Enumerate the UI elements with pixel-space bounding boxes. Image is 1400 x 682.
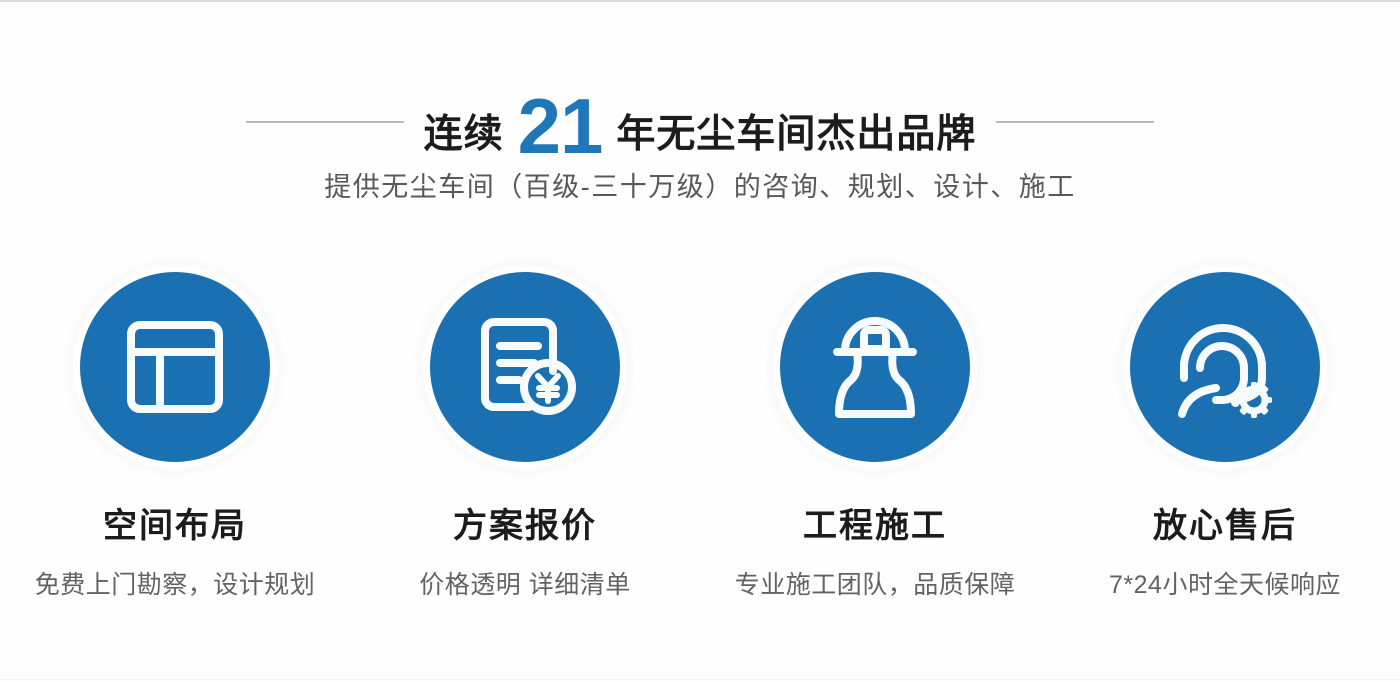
headline-row: 连续 21 年无尘车间杰出品牌 [0, 80, 1400, 164]
feature-title: 方案报价 [453, 498, 597, 547]
icon-halo [1122, 264, 1328, 470]
headline-divider-right [996, 121, 1154, 123]
feature-item-after-sales[interactable]: 放心售后 7*24小时全天候响应 [1050, 264, 1400, 601]
feature-list: 空间布局 免费上门勘察，设计规划 [0, 264, 1400, 601]
construction-worker-helmet-icon [823, 313, 927, 421]
icon-circle [1130, 272, 1320, 462]
subtitle: 提供无尘车间（百级-三十万级）的咨询、规划、设计、施工 [0, 165, 1400, 204]
icon-circle [780, 272, 970, 462]
headline-suffix: 年无尘车间杰出品牌 [616, 115, 976, 154]
document-yuan-quote-icon [471, 313, 579, 421]
feature-title: 放心售后 [1153, 498, 1297, 547]
headline-years-number: 21 [518, 87, 603, 165]
layout-grid-icon [123, 315, 227, 419]
feature-description: 7*24小时全天候响应 [1109, 565, 1341, 601]
feature-banner: 连续 21 年无尘车间杰出品牌 提供无尘车间（百级-三十万级）的咨询、规划、设计… [0, 0, 1400, 682]
headset-support-gear-icon [1170, 312, 1280, 422]
icon-halo [72, 264, 278, 470]
icon-halo [422, 264, 628, 470]
feature-description: 免费上门勘察，设计规划 [35, 565, 316, 601]
feature-description: 专业施工团队，品质保障 [735, 565, 1016, 601]
feature-item-quotation[interactable]: 方案报价 价格透明 详细清单 [350, 264, 700, 601]
icon-circle [430, 272, 620, 462]
icon-circle [80, 272, 270, 462]
feature-item-construction[interactable]: 工程施工 专业施工团队，品质保障 [700, 264, 1050, 601]
feature-item-space-layout[interactable]: 空间布局 免费上门勘察，设计规划 [0, 264, 350, 601]
feature-description: 价格透明 详细清单 [419, 565, 630, 601]
page-title: 连续 21 年无尘车间杰出品牌 [424, 83, 977, 161]
icon-halo [772, 264, 978, 470]
feature-title: 工程施工 [803, 498, 947, 547]
headline-prefix: 连续 [424, 115, 504, 154]
feature-title: 空间布局 [103, 498, 247, 547]
headline-divider-left [246, 121, 404, 123]
